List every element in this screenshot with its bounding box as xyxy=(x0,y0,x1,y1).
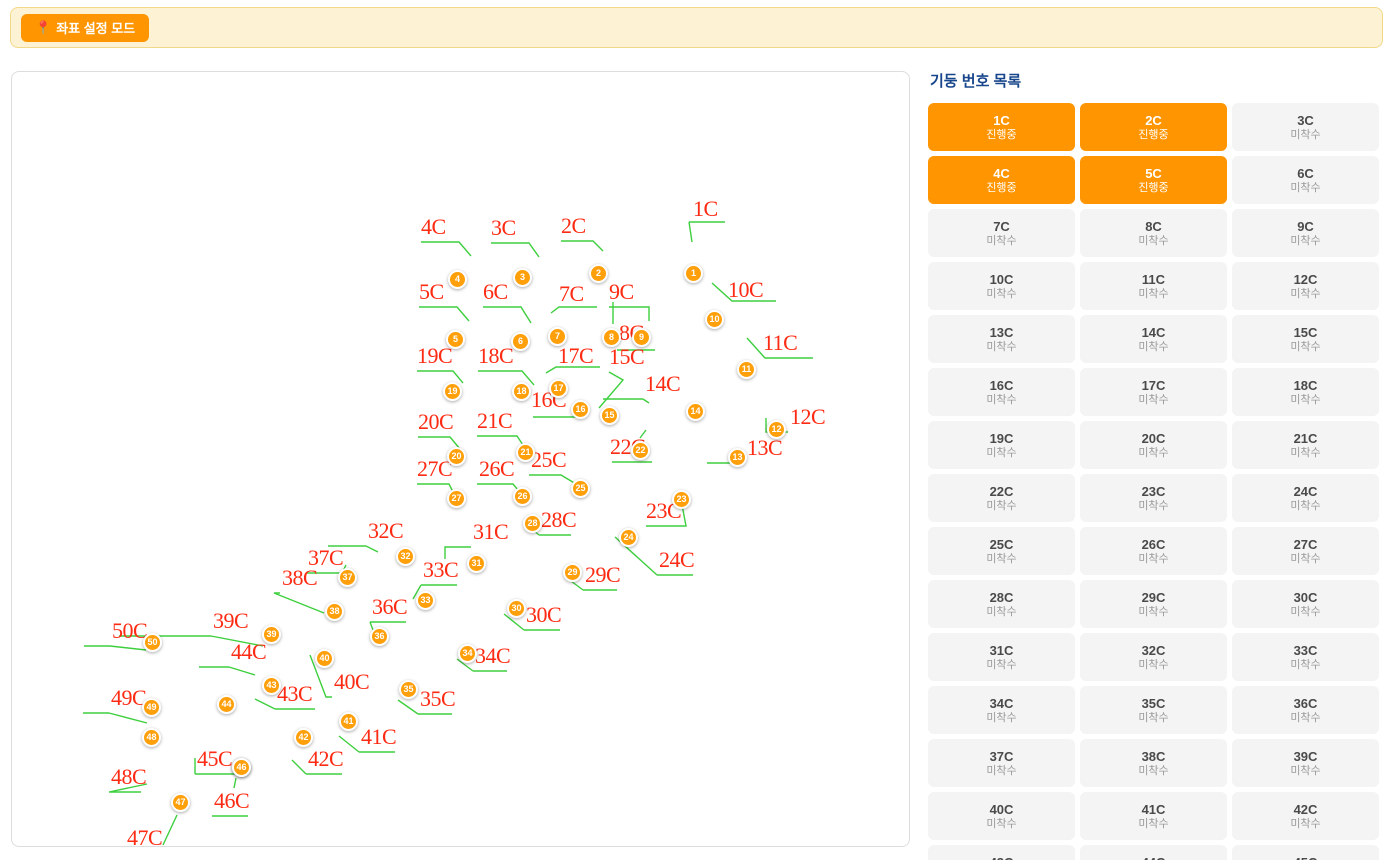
column-card-45c[interactable]: 45C미착수 xyxy=(1232,845,1379,860)
column-label-24c: 24C xyxy=(659,549,694,571)
column-card-status: 미착수 xyxy=(986,607,1016,618)
coordinate-marker-14[interactable]: 14 xyxy=(686,402,705,421)
column-label-26c: 26C xyxy=(479,458,514,480)
coordinate-marker-7[interactable]: 7 xyxy=(548,327,567,346)
column-card-id: 17C xyxy=(1142,379,1166,392)
column-card-id: 21C xyxy=(1294,432,1318,445)
column-card-15c[interactable]: 15C미착수 xyxy=(1232,315,1379,363)
column-label-25c: 25C xyxy=(531,449,566,471)
column-card-status: 진행중 xyxy=(1138,130,1168,141)
column-label-45c: 45C xyxy=(197,748,232,770)
column-label-46c: 46C xyxy=(214,790,249,812)
coordinate-marker-18[interactable]: 18 xyxy=(512,382,531,401)
column-card-id: 12C xyxy=(1294,273,1318,286)
coordinate-marker-10[interactable]: 10 xyxy=(705,310,724,329)
coordinate-marker-21[interactable]: 21 xyxy=(516,443,535,462)
column-label-47c: 47C xyxy=(127,827,162,847)
coordinate-marker-33[interactable]: 33 xyxy=(416,591,435,610)
column-card-status: 미착수 xyxy=(1290,236,1320,247)
column-card-7c[interactable]: 7C미착수 xyxy=(928,209,1075,257)
column-card-status: 진행중 xyxy=(986,183,1016,194)
column-card-id: 29C xyxy=(1142,591,1166,604)
column-card-18c[interactable]: 18C미착수 xyxy=(1232,368,1379,416)
column-card-id: 16C xyxy=(990,379,1014,392)
column-label-7c: 7C xyxy=(559,283,584,305)
column-label-5c: 5C xyxy=(419,281,444,303)
coordinate-marker-2[interactable]: 2 xyxy=(589,264,608,283)
column-card-status: 미착수 xyxy=(986,766,1016,777)
coordinate-marker-47[interactable]: 47 xyxy=(171,793,190,812)
coordinate-mode-banner: 📍 좌표 설정 모드 xyxy=(10,7,1383,48)
column-card-status: 미착수 xyxy=(1290,289,1320,300)
column-card-id: 7C xyxy=(993,220,1010,233)
coordinate-marker-9[interactable]: 9 xyxy=(632,328,651,347)
column-card-20c[interactable]: 20C미착수 xyxy=(1080,421,1227,469)
column-card-27c[interactable]: 27C미착수 xyxy=(1232,527,1379,575)
column-label-36c: 36C xyxy=(372,596,407,618)
column-card-22c[interactable]: 22C미착수 xyxy=(928,474,1075,522)
coordinate-marker-17[interactable]: 17 xyxy=(549,379,568,398)
column-label-42c: 42C xyxy=(308,748,343,770)
coordinate-marker-40[interactable]: 40 xyxy=(315,649,334,668)
panel-title: 기둥 번호 목록 xyxy=(930,70,1383,91)
column-card-status: 미착수 xyxy=(986,289,1016,300)
column-label-19c: 19C xyxy=(417,345,452,367)
column-card-status: 미착수 xyxy=(1138,289,1168,300)
column-card-9c[interactable]: 9C미착수 xyxy=(1232,209,1379,257)
column-card-status: 미착수 xyxy=(1138,607,1168,618)
column-card-id: 33C xyxy=(1294,644,1318,657)
column-card-id: 44C xyxy=(1142,856,1166,860)
column-card-status: 미착수 xyxy=(1290,713,1320,724)
column-card-21c[interactable]: 21C미착수 xyxy=(1232,421,1379,469)
column-card-44c[interactable]: 44C미착수 xyxy=(1080,845,1227,860)
column-card-26c[interactable]: 26C미착수 xyxy=(1080,527,1227,575)
column-card-id: 13C xyxy=(990,326,1014,339)
column-card-id: 36C xyxy=(1294,697,1318,710)
blueprint-canvas-panel[interactable]: 4C3C2C1C5C6C7C9C10C8C11C19C18C17C15C14C1… xyxy=(11,71,910,847)
column-card-status: 미착수 xyxy=(1290,819,1320,830)
column-card-id: 42C xyxy=(1294,803,1318,816)
coordinate-marker-31[interactable]: 31 xyxy=(467,554,486,573)
column-card-id: 5C xyxy=(1145,167,1162,180)
column-label-17c: 17C xyxy=(558,345,593,367)
column-label-27c: 27C xyxy=(417,458,452,480)
column-label-38c: 38C xyxy=(282,567,317,589)
column-card-id: 22C xyxy=(990,485,1014,498)
column-card-id: 10C xyxy=(990,273,1014,286)
coordinate-marker-1[interactable]: 1 xyxy=(684,264,703,283)
column-card-status: 미착수 xyxy=(1138,448,1168,459)
coordinate-marker-38[interactable]: 38 xyxy=(325,602,344,621)
coordinate-marker-50[interactable]: 50 xyxy=(143,633,162,652)
column-card-id: 26C xyxy=(1142,538,1166,551)
column-label-10c: 10C xyxy=(728,279,763,301)
column-card-42c[interactable]: 42C미착수 xyxy=(1232,792,1379,840)
column-card-29c[interactable]: 29C미착수 xyxy=(1080,580,1227,628)
column-label-31c: 31C xyxy=(473,521,508,543)
coordinate-marker-43[interactable]: 43 xyxy=(262,676,281,695)
column-card-status: 진행중 xyxy=(1138,183,1168,194)
column-card-id: 30C xyxy=(1294,591,1318,604)
column-card-id: 37C xyxy=(990,750,1014,763)
column-card-34c[interactable]: 34C미착수 xyxy=(928,686,1075,734)
column-card-status: 진행중 xyxy=(986,130,1016,141)
coordinate-marker-5[interactable]: 5 xyxy=(446,330,465,349)
coordinate-marker-27[interactable]: 27 xyxy=(447,489,466,508)
column-card-status: 미착수 xyxy=(1290,448,1320,459)
column-card-43c[interactable]: 43C미착수 xyxy=(928,845,1075,860)
column-card-status: 미착수 xyxy=(1138,819,1168,830)
column-label-18c: 18C xyxy=(478,345,513,367)
coordinate-marker-34[interactable]: 34 xyxy=(458,644,477,663)
column-card-id: 32C xyxy=(1142,644,1166,657)
column-card-id: 11C xyxy=(1142,273,1165,286)
column-card-17c[interactable]: 17C미착수 xyxy=(1080,368,1227,416)
column-card-12c[interactable]: 12C미착수 xyxy=(1232,262,1379,310)
column-label-34c: 34C xyxy=(475,645,510,667)
coordinate-marker-15[interactable]: 15 xyxy=(600,406,619,425)
coordinate-marker-22[interactable]: 22 xyxy=(631,441,650,460)
column-label-41c: 41C xyxy=(361,726,396,748)
column-card-status: 미착수 xyxy=(986,342,1016,353)
column-card-id: 4C xyxy=(993,167,1010,180)
column-card-status: 미착수 xyxy=(986,819,1016,830)
column-card-status: 미착수 xyxy=(1290,342,1320,353)
column-card-status: 미착수 xyxy=(1138,713,1168,724)
coordinate-marker-23[interactable]: 23 xyxy=(672,490,691,509)
column-card-id: 3C xyxy=(1297,114,1314,127)
column-card-id: 15C xyxy=(1294,326,1318,339)
column-label-48c: 48C xyxy=(111,766,146,788)
column-grid: 1C진행중2C진행중3C미착수4C진행중5C진행중6C미착수7C미착수8C미착수… xyxy=(928,103,1383,860)
coordinate-mode-button[interactable]: 📍 좌표 설정 모드 xyxy=(21,14,149,42)
coordinate-marker-26[interactable]: 26 xyxy=(513,487,532,506)
column-card-status: 미착수 xyxy=(1138,342,1168,353)
coordinate-mode-button-label: 좌표 설정 모드 xyxy=(56,18,135,37)
coordinate-marker-16[interactable]: 16 xyxy=(571,400,590,419)
column-card-status: 미착수 xyxy=(986,236,1016,247)
column-label-32c: 32C xyxy=(368,520,403,542)
column-label-9c: 9C xyxy=(609,281,634,303)
coordinate-marker-28[interactable]: 28 xyxy=(523,514,542,533)
column-card-status: 미착수 xyxy=(1290,501,1320,512)
coordinate-marker-48[interactable]: 48 xyxy=(142,728,161,747)
coordinate-marker-19[interactable]: 19 xyxy=(443,382,462,401)
coordinate-marker-12[interactable]: 12 xyxy=(767,420,786,439)
coordinate-marker-13[interactable]: 13 xyxy=(728,448,747,467)
column-card-id: 25C xyxy=(990,538,1014,551)
column-card-id: 41C xyxy=(1142,803,1166,816)
column-card-id: 34C xyxy=(990,697,1014,710)
coordinate-marker-32[interactable]: 32 xyxy=(396,547,415,566)
column-card-id: 27C xyxy=(1294,538,1318,551)
column-card-25c[interactable]: 25C미착수 xyxy=(928,527,1075,575)
column-card-status: 미착수 xyxy=(1290,183,1320,194)
column-card-status: 미착수 xyxy=(1138,236,1168,247)
column-card-16c[interactable]: 16C미착수 xyxy=(928,368,1075,416)
column-card-status: 미착수 xyxy=(1290,766,1320,777)
column-card-status: 미착수 xyxy=(986,713,1016,724)
column-label-39c: 39C xyxy=(213,610,248,632)
column-card-id: 1C xyxy=(993,114,1010,127)
column-card-41c[interactable]: 41C미착수 xyxy=(1080,792,1227,840)
pin-icon: 📍 xyxy=(35,21,51,34)
column-label-50c: 50C xyxy=(112,620,147,642)
coordinate-marker-20[interactable]: 20 xyxy=(447,447,466,466)
column-card-status: 미착수 xyxy=(1138,395,1168,406)
coordinate-marker-41[interactable]: 41 xyxy=(339,712,358,731)
column-label-11c: 11C xyxy=(763,332,797,354)
column-card-1c[interactable]: 1C진행중 xyxy=(928,103,1075,151)
coordinate-marker-25[interactable]: 25 xyxy=(571,479,590,498)
column-label-13c: 13C xyxy=(747,437,782,459)
coordinate-marker-49[interactable]: 49 xyxy=(142,698,161,717)
column-card-24c[interactable]: 24C미착수 xyxy=(1232,474,1379,522)
coordinate-marker-30[interactable]: 30 xyxy=(507,599,526,618)
column-card-status: 미착수 xyxy=(1138,501,1168,512)
coordinate-marker-44[interactable]: 44 xyxy=(217,695,236,714)
column-card-31c[interactable]: 31C미착수 xyxy=(928,633,1075,681)
column-card-id: 19C xyxy=(990,432,1014,445)
column-label-1c: 1C xyxy=(693,198,718,220)
column-card-status: 미착수 xyxy=(1290,607,1320,618)
column-card-id: 28C xyxy=(990,591,1014,604)
column-label-3c: 3C xyxy=(491,217,516,239)
coordinate-marker-8[interactable]: 8 xyxy=(602,328,621,347)
column-card-id: 9C xyxy=(1297,220,1314,233)
column-card-2c[interactable]: 2C진행중 xyxy=(1080,103,1227,151)
column-card-6c[interactable]: 6C미착수 xyxy=(1232,156,1379,204)
column-label-15c: 15C xyxy=(609,346,644,368)
column-card-status: 미착수 xyxy=(986,554,1016,565)
column-card-3c[interactable]: 3C미착수 xyxy=(1232,103,1379,151)
coordinate-marker-46[interactable]: 46 xyxy=(232,758,251,777)
coordinate-marker-11[interactable]: 11 xyxy=(737,360,756,379)
column-label-14c: 14C xyxy=(645,373,680,395)
column-card-33c[interactable]: 33C미착수 xyxy=(1232,633,1379,681)
column-card-38c[interactable]: 38C미착수 xyxy=(1080,739,1227,787)
column-label-33c: 33C xyxy=(423,559,458,581)
column-card-14c[interactable]: 14C미착수 xyxy=(1080,315,1227,363)
column-card-status: 미착수 xyxy=(986,448,1016,459)
column-card-status: 미착수 xyxy=(1290,395,1320,406)
column-label-29c: 29C xyxy=(585,564,620,586)
coordinate-marker-6[interactable]: 6 xyxy=(511,332,530,351)
column-card-status: 미착수 xyxy=(1138,660,1168,671)
column-card-id: 43C xyxy=(990,856,1014,860)
column-label-20c: 20C xyxy=(418,411,453,433)
column-card-status: 미착수 xyxy=(1290,660,1320,671)
column-card-32c[interactable]: 32C미착수 xyxy=(1080,633,1227,681)
column-label-43c: 43C xyxy=(277,683,312,705)
column-card-id: 14C xyxy=(1142,326,1166,339)
column-card-id: 6C xyxy=(1297,167,1314,180)
coordinate-marker-39[interactable]: 39 xyxy=(262,625,281,644)
coordinate-marker-37[interactable]: 37 xyxy=(338,568,357,587)
column-label-6c: 6C xyxy=(483,281,508,303)
column-label-28c: 28C xyxy=(541,509,576,531)
column-card-39c[interactable]: 39C미착수 xyxy=(1232,739,1379,787)
column-card-id: 39C xyxy=(1294,750,1318,763)
column-card-id: 8C xyxy=(1145,220,1162,233)
column-card-id: 20C xyxy=(1142,432,1166,445)
column-card-28c[interactable]: 28C미착수 xyxy=(928,580,1075,628)
column-card-id: 2C xyxy=(1145,114,1162,127)
column-card-status: 미착수 xyxy=(986,501,1016,512)
coordinate-marker-42[interactable]: 42 xyxy=(294,728,313,747)
column-card-id: 38C xyxy=(1142,750,1166,763)
column-card-4c[interactable]: 4C진행중 xyxy=(928,156,1075,204)
column-card-status: 미착수 xyxy=(1290,554,1320,565)
column-card-status: 미착수 xyxy=(986,660,1016,671)
blueprint-canvas-stage: 4C3C2C1C5C6C7C9C10C8C11C19C18C17C15C14C1… xyxy=(11,71,910,847)
column-label-4c: 4C xyxy=(421,216,446,238)
column-card-35c[interactable]: 35C미착수 xyxy=(1080,686,1227,734)
column-card-id: 18C xyxy=(1294,379,1318,392)
column-card-status: 미착수 xyxy=(986,395,1016,406)
column-label-12c: 12C xyxy=(790,406,825,428)
column-card-36c[interactable]: 36C미착수 xyxy=(1232,686,1379,734)
column-card-id: 35C xyxy=(1142,697,1166,710)
column-card-11c[interactable]: 11C미착수 xyxy=(1080,262,1227,310)
column-card-id: 31C xyxy=(990,644,1014,657)
coordinate-marker-36[interactable]: 36 xyxy=(370,627,389,646)
column-card-19c[interactable]: 19C미착수 xyxy=(928,421,1075,469)
column-label-30c: 30C xyxy=(526,604,561,626)
column-card-id: 23C xyxy=(1142,485,1166,498)
coordinate-marker-35[interactable]: 35 xyxy=(399,680,418,699)
column-card-13c[interactable]: 13C미착수 xyxy=(928,315,1075,363)
column-card-30c[interactable]: 30C미착수 xyxy=(1232,580,1379,628)
column-card-id: 45C xyxy=(1294,856,1318,860)
column-card-23c[interactable]: 23C미착수 xyxy=(1080,474,1227,522)
coordinate-marker-4[interactable]: 4 xyxy=(448,270,467,289)
column-list-panel: 기둥 번호 목록 1C진행중2C진행중3C미착수4C진행중5C진행중6C미착수7… xyxy=(928,70,1383,860)
column-label-40c: 40C xyxy=(334,671,369,693)
column-card-5c[interactable]: 5C진행중 xyxy=(1080,156,1227,204)
column-card-status: 미착수 xyxy=(1138,766,1168,777)
column-card-id: 40C xyxy=(990,803,1014,816)
coordinate-marker-29[interactable]: 29 xyxy=(563,563,582,582)
coordinate-marker-3[interactable]: 3 xyxy=(513,268,532,287)
column-label-49c: 49C xyxy=(111,687,146,709)
column-card-37c[interactable]: 37C미착수 xyxy=(928,739,1075,787)
column-label-21c: 21C xyxy=(477,410,512,432)
column-card-40c[interactable]: 40C미착수 xyxy=(928,792,1075,840)
column-card-8c[interactable]: 8C미착수 xyxy=(1080,209,1227,257)
column-card-status: 미착수 xyxy=(1138,554,1168,565)
column-card-10c[interactable]: 10C미착수 xyxy=(928,262,1075,310)
column-card-id: 24C xyxy=(1294,485,1318,498)
column-label-44c: 44C xyxy=(231,641,266,663)
coordinate-marker-24[interactable]: 24 xyxy=(619,528,638,547)
column-label-35c: 35C xyxy=(420,688,455,710)
column-card-status: 미착수 xyxy=(1290,130,1320,141)
column-label-2c: 2C xyxy=(561,215,586,237)
